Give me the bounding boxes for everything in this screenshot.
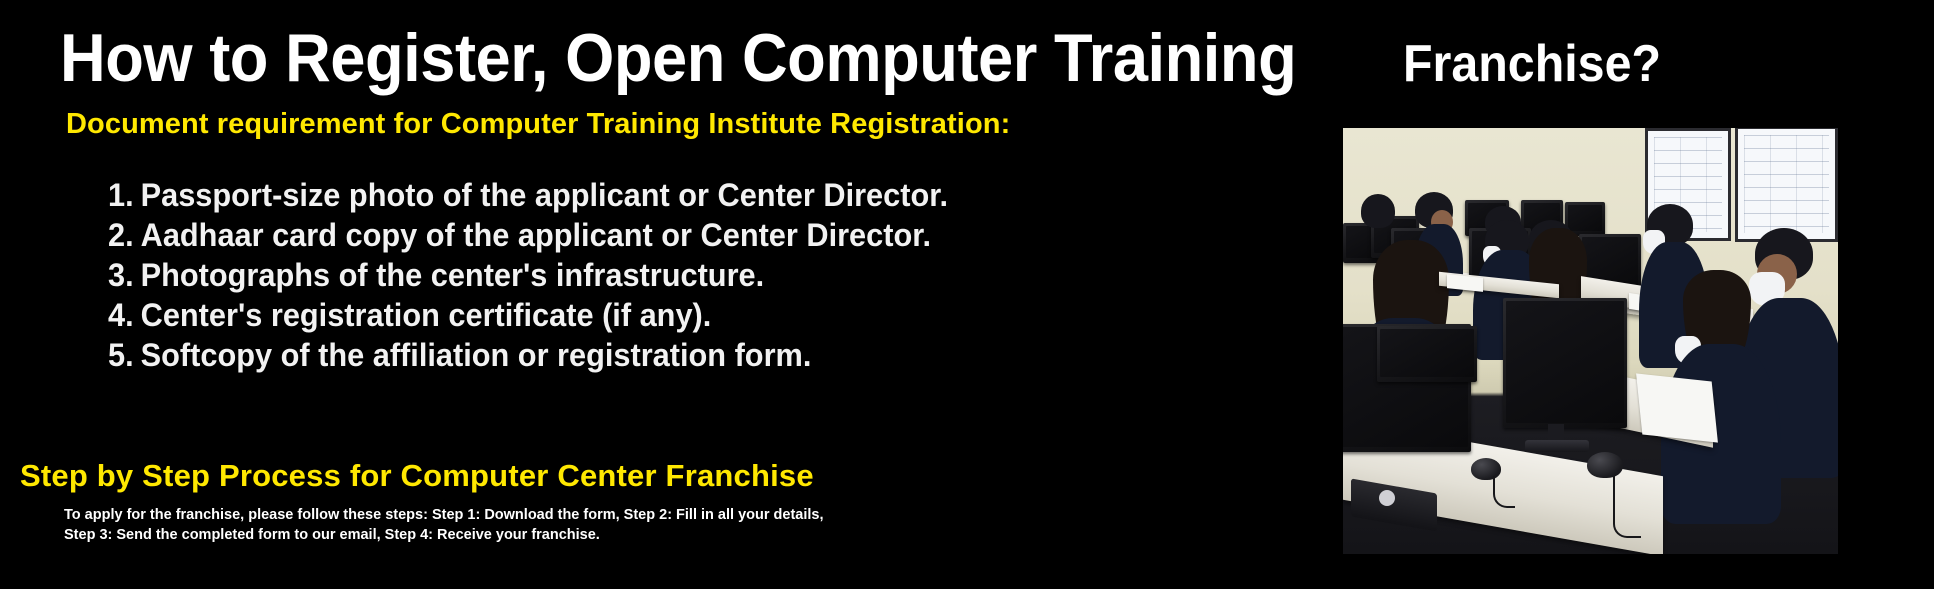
document-requirement-heading: Document requirement for Computer Traini… (66, 108, 1010, 141)
list-item-number: 4. (108, 295, 141, 335)
list-item-label: Passport-size photo of the applicant or … (141, 177, 948, 213)
document-requirement-list: 1.Passport-size photo of the applicant o… (108, 175, 983, 375)
step-process-heading: Step by Step Process for Computer Center… (20, 458, 814, 494)
list-item-label: Aadhaar card copy of the applicant or Ce… (141, 217, 931, 253)
cable-2 (1493, 476, 1515, 508)
mouse-right (1587, 452, 1623, 478)
list-item-number: 5. (108, 335, 141, 375)
slide-canvas: How to Register, Open Computer Training … (0, 0, 1934, 589)
monitor-foreground-center (1503, 298, 1627, 428)
cable-1 (1613, 476, 1641, 538)
classroom-photo-image (1343, 128, 1838, 554)
monitor-base-center (1525, 440, 1589, 452)
list-item-label: Photographs of the center's infrastructu… (141, 257, 765, 293)
monitor-foreground-back (1377, 326, 1477, 382)
list-item: 5.Softcopy of the affiliation or registr… (108, 335, 948, 375)
list-item: 2.Aadhaar card copy of the applicant or … (108, 215, 948, 255)
paper-sheet-3 (1636, 373, 1718, 442)
student-head-back-1 (1361, 194, 1395, 228)
title-suffix-text: Franchise? (1403, 38, 1661, 90)
page-title: How to Register, Open Computer Training … (60, 24, 1681, 92)
title-main-text: How to Register, Open Computer Training (60, 24, 1296, 92)
list-item-label: Softcopy of the affiliation or registrat… (141, 337, 812, 373)
list-item: 1.Passport-size photo of the applicant o… (108, 175, 948, 215)
device-knob (1379, 490, 1395, 506)
list-item-number: 1. (108, 175, 141, 215)
list-item-label: Center's registration certificate (if an… (141, 297, 712, 333)
classroom-photo (1343, 128, 1838, 554)
step-process-paragraph: To apply for the franchise, please follo… (64, 505, 854, 545)
list-item-number: 2. (108, 215, 141, 255)
list-item-number: 3. (108, 255, 141, 295)
list-item: 3.Photographs of the center's infrastruc… (108, 255, 948, 295)
list-item: 4.Center's registration certificate (if … (108, 295, 948, 335)
whiteboard-right (1735, 128, 1838, 242)
